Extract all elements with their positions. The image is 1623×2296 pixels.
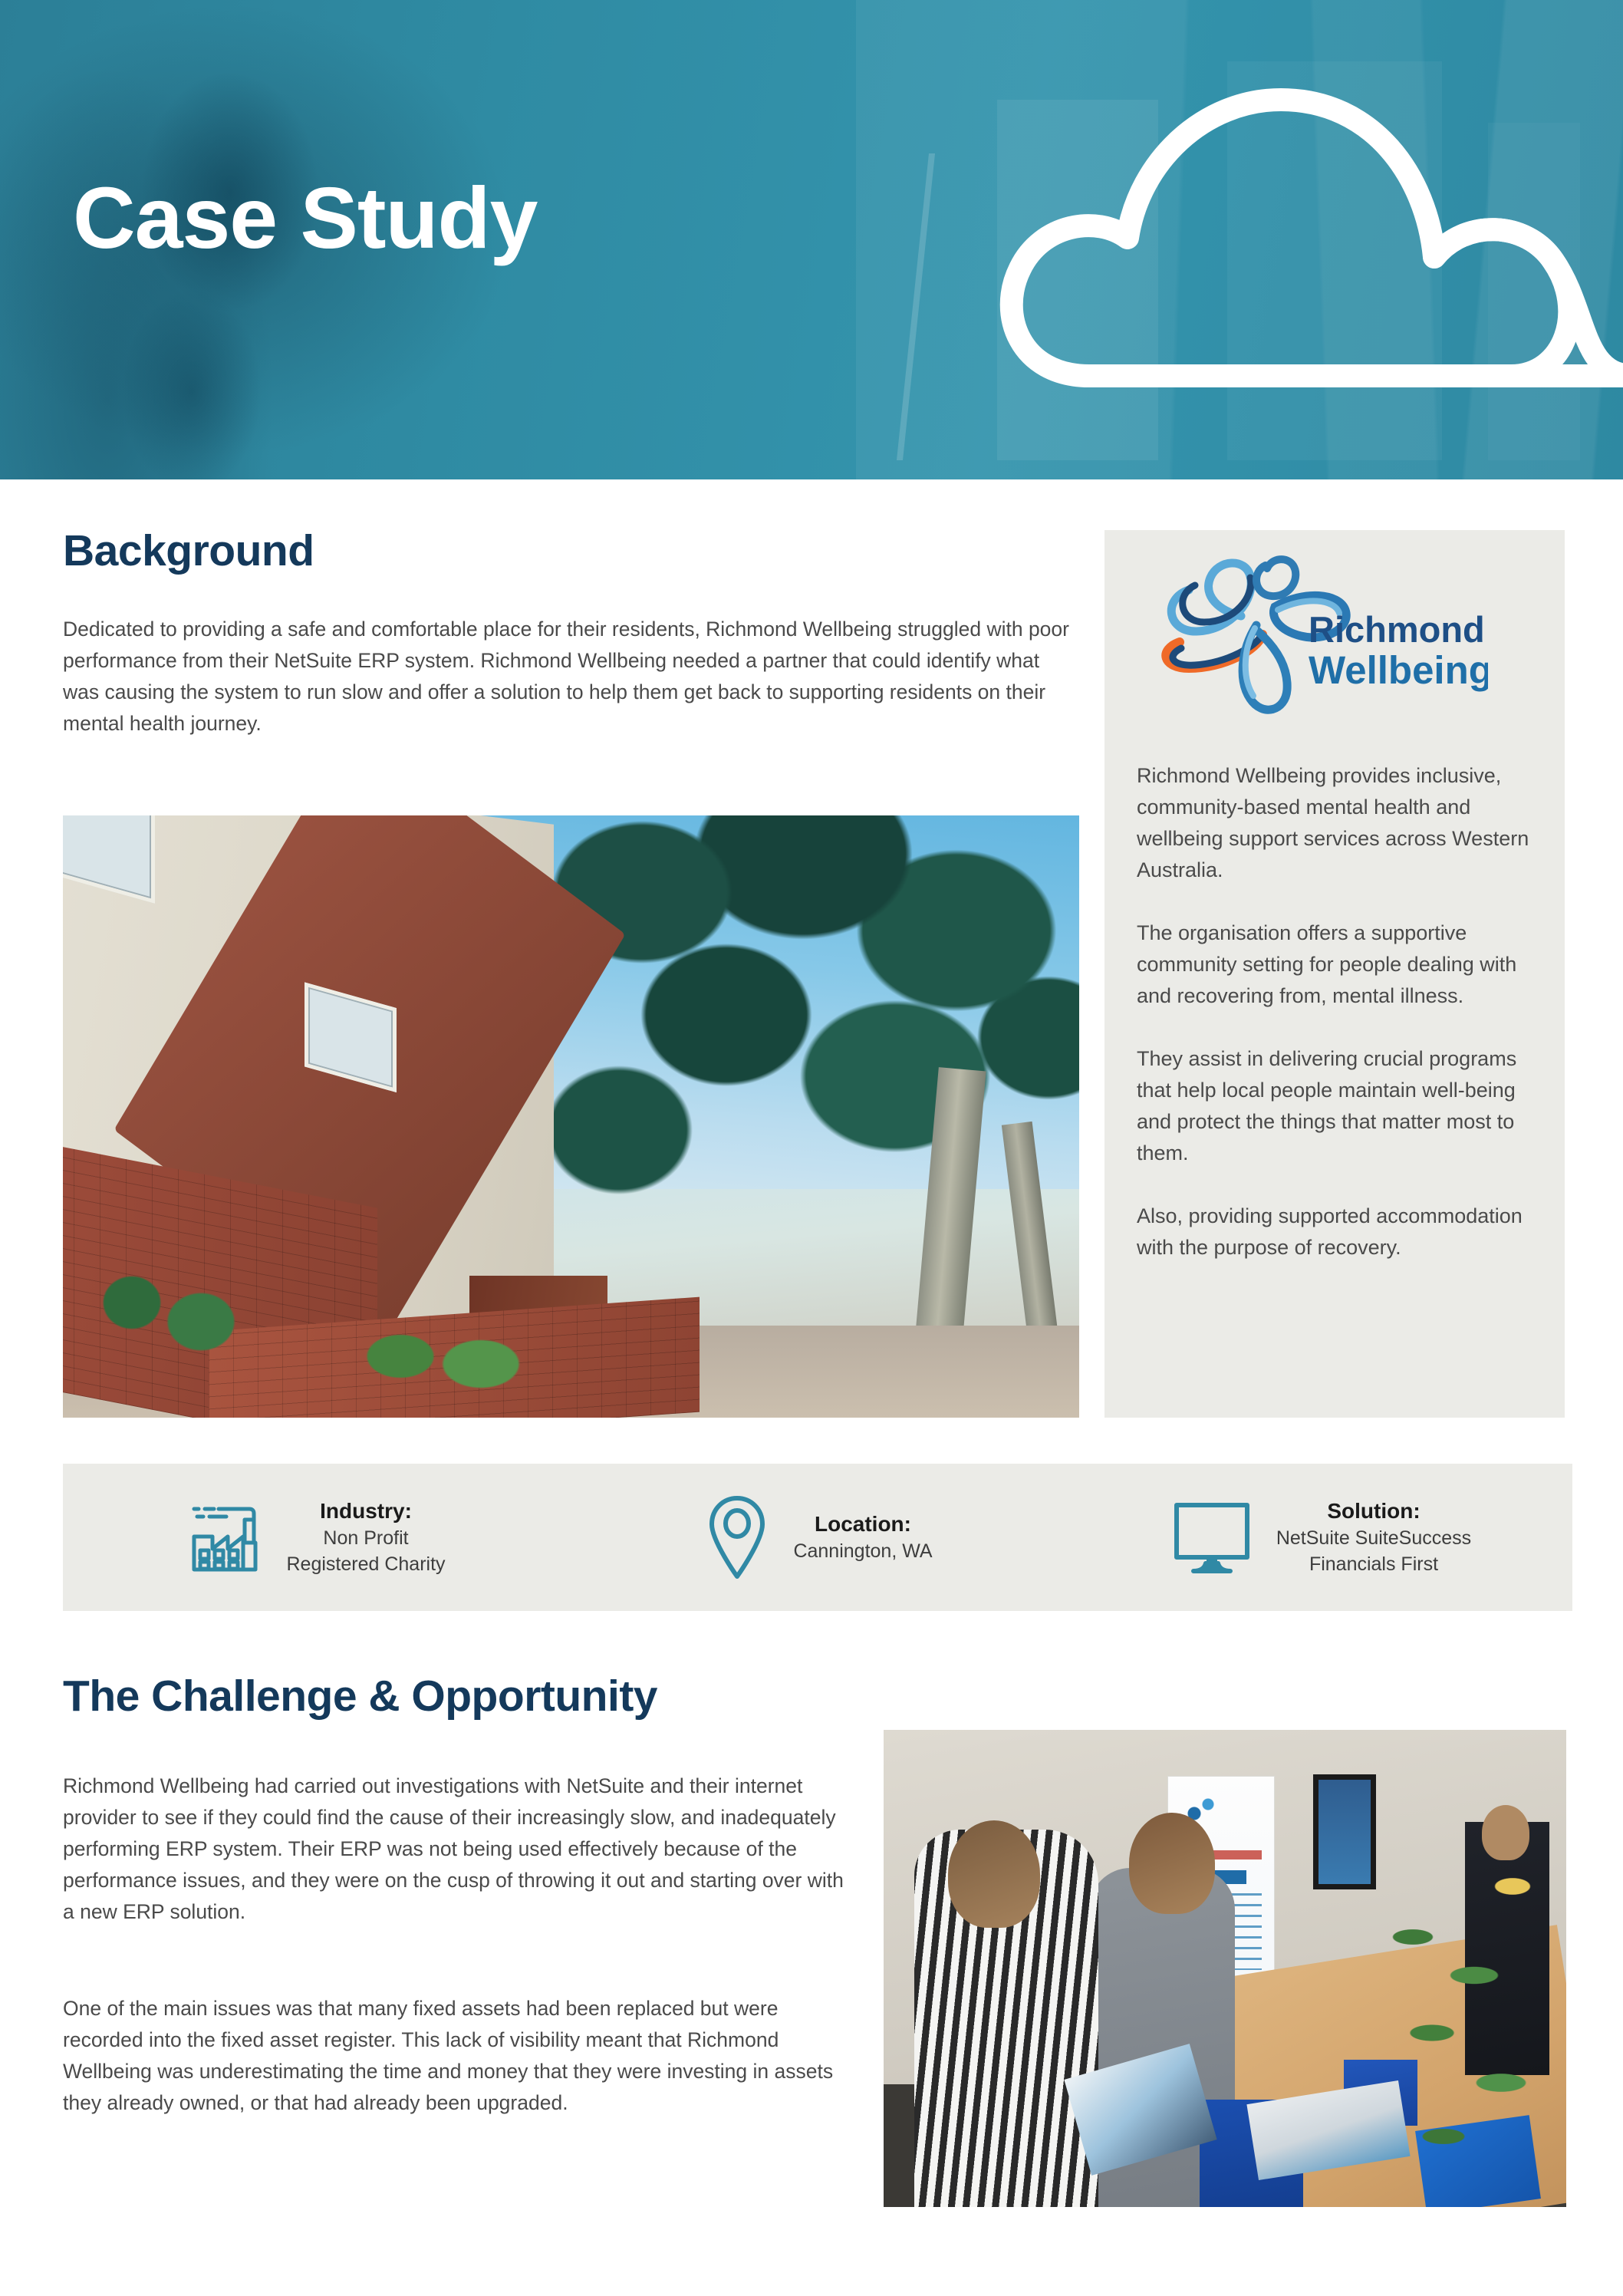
info-item-solution: Solution: NetSuite SuiteSuccess Financia… xyxy=(1069,1464,1572,1611)
info-item-industry: Industry: Non Profit Registered Charity xyxy=(63,1464,566,1611)
industry-value-1: Non Profit xyxy=(286,1525,445,1551)
page-header-banner: Case Study xyxy=(0,0,1623,479)
sidebar-paragraph-4: Also, providing supported accommodation … xyxy=(1137,1201,1551,1263)
location-value-1: Cannington, WA xyxy=(793,1538,932,1564)
key-facts-bar: Industry: Non Profit Registered Charity … xyxy=(63,1464,1572,1611)
sidebar-paragraph-2: The organisation offers a supportive com… xyxy=(1137,917,1551,1012)
monitor-icon xyxy=(1170,1499,1255,1576)
solution-value-2: Financials First xyxy=(1276,1551,1471,1577)
industry-value-2: Registered Charity xyxy=(286,1551,445,1577)
location-pin-icon xyxy=(703,1494,772,1582)
location-label: Location: xyxy=(793,1510,932,1538)
office-meeting-photo xyxy=(884,1730,1566,2207)
sidebar-description: Richmond Wellbeing provides inclusive, c… xyxy=(1137,760,1551,1263)
svg-text:Richmond: Richmond xyxy=(1309,609,1485,650)
sidebar-paragraph-1: Richmond Wellbeing provides inclusive, c… xyxy=(1137,760,1551,886)
background-paragraph: Dedicated to providing a safe and comfor… xyxy=(63,614,1072,740)
svg-text:Wellbeing: Wellbeing xyxy=(1309,648,1488,692)
industry-label: Industry: xyxy=(286,1497,445,1525)
organisation-info-sidebar: Richmond Wellbeing Richmond Wellbeing pr… xyxy=(1104,530,1565,1418)
challenge-paragraph-1: Richmond Wellbeing had carried out inves… xyxy=(63,1771,845,1928)
challenge-heading: The Challenge & Opportunity xyxy=(63,1671,657,1721)
background-heading: Background xyxy=(63,525,314,576)
solution-label: Solution: xyxy=(1276,1497,1471,1525)
richmond-wellbeing-logo: Richmond Wellbeing xyxy=(1158,552,1488,728)
solution-value-1: NetSuite SuiteSuccess xyxy=(1276,1525,1471,1551)
info-item-location: Location: Cannington, WA xyxy=(566,1464,1069,1611)
cloud-logo-icon xyxy=(974,46,1623,437)
residential-house-photo xyxy=(63,815,1079,1418)
sidebar-paragraph-3: They assist in delivering crucial progra… xyxy=(1137,1043,1551,1169)
challenge-paragraph-2: One of the main issues was that many fix… xyxy=(63,1993,845,2119)
factory-icon xyxy=(183,1497,265,1578)
page-title: Case Study xyxy=(73,175,537,262)
